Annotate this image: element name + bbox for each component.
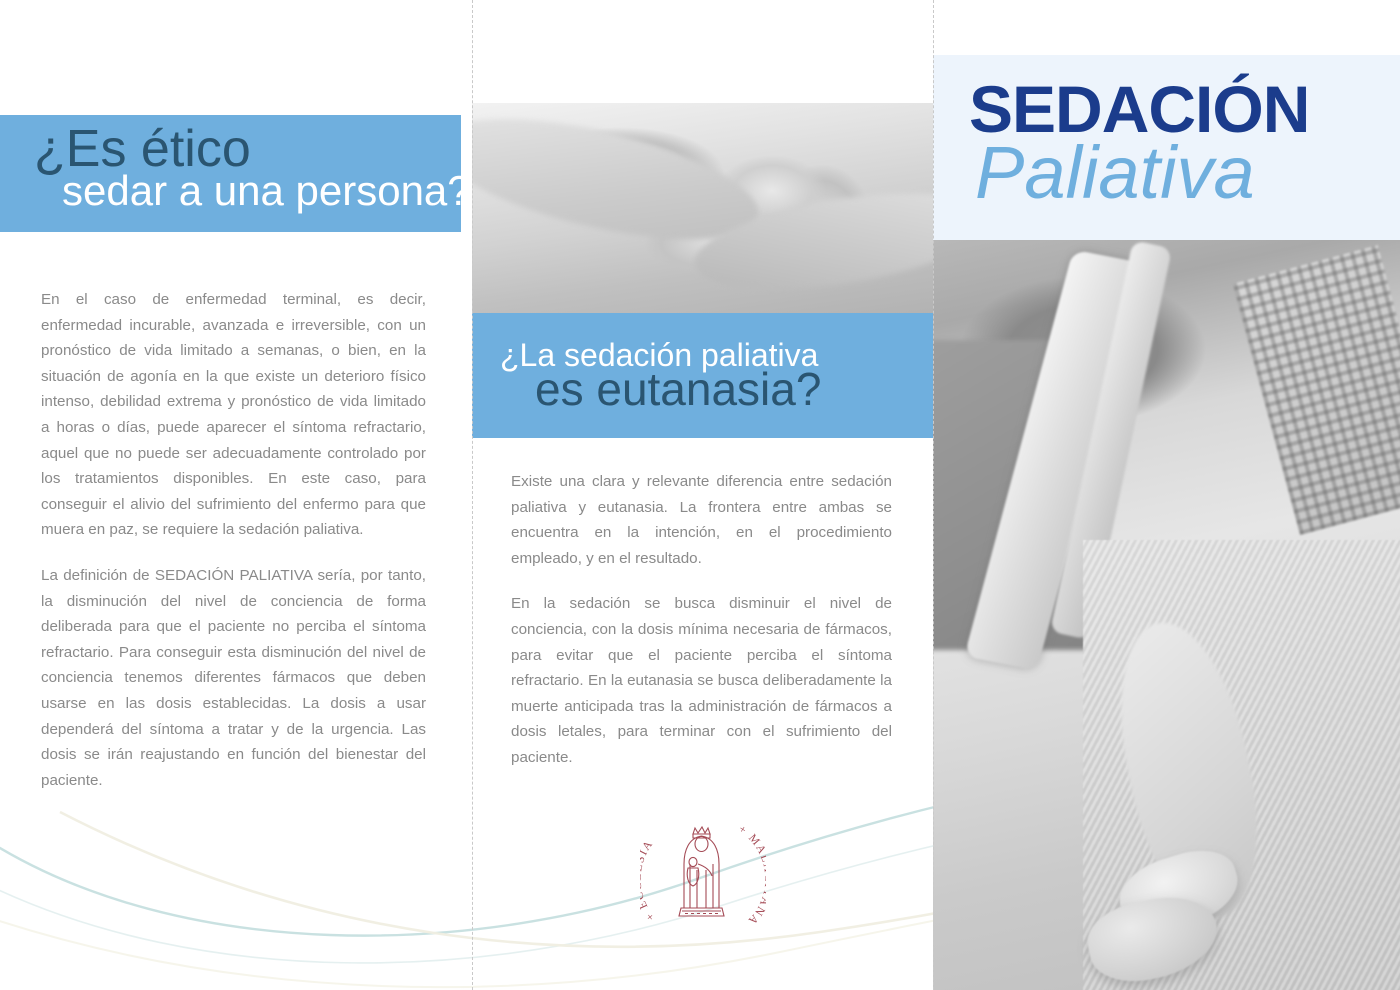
middle-banner-line-bottom: es eutanasia? [535, 366, 821, 412]
left-paragraph-2: La definición de SEDACIÓN PALIATIVA serí… [41, 563, 426, 793]
hospital-bed-photo [933, 240, 1400, 990]
seal-text-right: + MALACITANA [736, 823, 766, 927]
fold-line-right [933, 0, 934, 990]
seal-text-left: + ECCLESIA [640, 838, 657, 923]
left-panel-body: En el caso de enfermedad terminal, es de… [41, 287, 426, 793]
ecclesia-malacitana-seal: + ECCLESIA + MALACITANA [640, 808, 766, 942]
brochure-sheet: ¿Es ético sedar a una persona? En el cas… [0, 0, 1400, 990]
middle-question-banner: ¿La sedación paliativa es eutanasia? [472, 313, 933, 438]
middle-paragraph-1: Existe una clara y relevante diferencia … [511, 469, 892, 571]
middle-panel-body: Existe una clara y relevante diferencia … [511, 469, 892, 771]
left-banner-line-bottom: sedar a una persona? [62, 170, 461, 212]
checkered-gown-shape [1233, 245, 1400, 535]
seal-madonna-figure [679, 827, 724, 916]
middle-paragraph-2: En la sedación se busca disminuir el niv… [511, 591, 892, 770]
left-question-banner: ¿Es ético sedar a una persona? [0, 115, 461, 232]
cover-title-block: SEDACIÓN Paliativa [933, 55, 1400, 240]
left-paragraph-1: En el caso de enfermedad terminal, es de… [41, 287, 426, 543]
cover-title-sub: Paliativa [975, 136, 1255, 210]
panel-left: ¿Es ético sedar a una persona? En el cas… [0, 0, 472, 990]
fold-line-left [472, 0, 473, 990]
clasped-hands-photo [472, 103, 933, 315]
